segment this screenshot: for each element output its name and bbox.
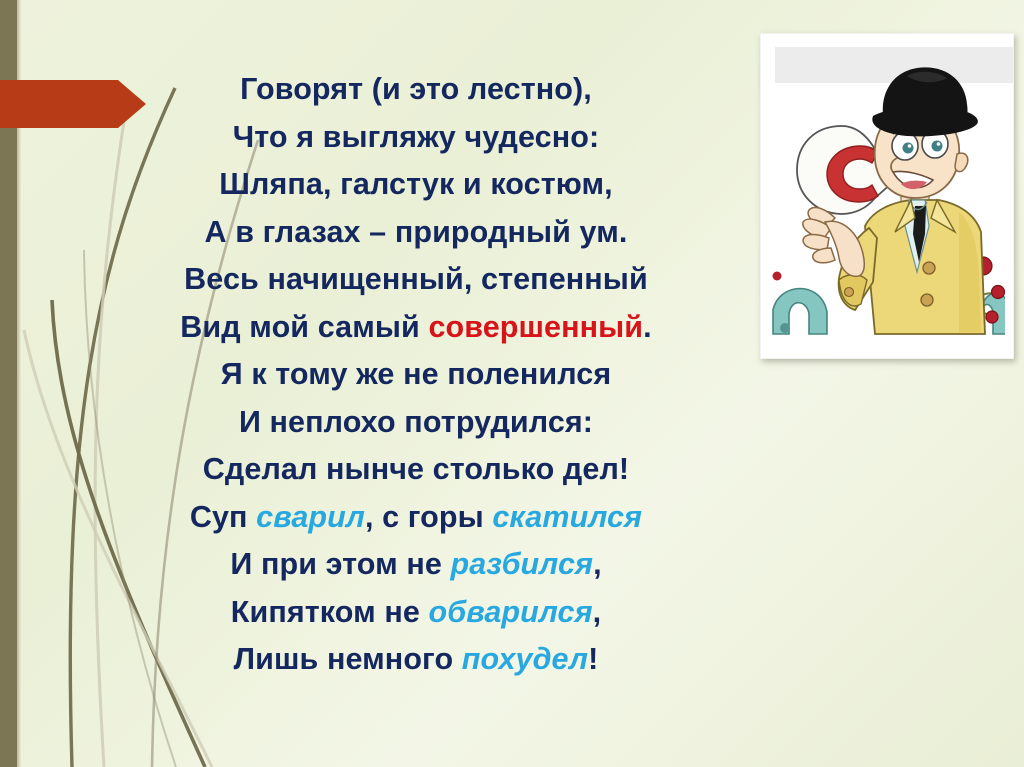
poem-line-13: Лишь немного похудел! bbox=[86, 636, 746, 684]
poem-line-12: Кипятком не обварился, bbox=[86, 589, 746, 637]
poem-segment-12-2-blue: обварился bbox=[428, 595, 592, 629]
poem-segment-6-2-red: совершенный bbox=[428, 310, 643, 344]
poem-segment-9-1: Сделал нынче столько дел! bbox=[203, 452, 629, 486]
poem-segment-6-1: Вид мой самый bbox=[180, 310, 428, 344]
poem-text-block: Говорят (и это лестно), Что я выгляжу чу… bbox=[86, 66, 746, 684]
poem-segment-13-2-blue: похудел bbox=[462, 642, 588, 676]
poem-segment-5-1: Весь начищенный, степенный bbox=[184, 262, 648, 296]
poem-line-6: Вид мой самый совершенный. bbox=[86, 304, 746, 352]
poem-segment-12-3: , bbox=[593, 595, 602, 629]
poem-line-4: А в глазах – природный ум. bbox=[86, 209, 746, 257]
poem-segment-11-2-blue: разбился bbox=[451, 547, 594, 581]
poem-segment-13-1: Лишь немного bbox=[234, 642, 462, 676]
poem-line-5: Весь начищенный, степенный bbox=[86, 256, 746, 304]
poem-line-10: Суп сварил, с горы скатился bbox=[86, 494, 746, 542]
poem-line-8: И неплохо потрудился: bbox=[86, 399, 746, 447]
boy-in-yellow-suit-illustration bbox=[769, 42, 1005, 350]
illustration-frame bbox=[760, 33, 1014, 359]
poem-segment-1-1: Говорят (и это лестно), bbox=[240, 72, 592, 106]
poem-segment-6-3: . bbox=[643, 310, 652, 344]
poem-line-9: Сделал нынче столько дел! bbox=[86, 446, 746, 494]
poem-line-11: И при этом не разбился, bbox=[86, 541, 746, 589]
poem-segment-10-4-blue: скатился bbox=[492, 500, 642, 534]
slide-canvas: Говорят (и это лестно), Что я выгляжу чу… bbox=[0, 0, 1024, 767]
poem-segment-11-3: , bbox=[593, 547, 602, 581]
poem-line-3: Шляпа, галстук и костюм, bbox=[86, 161, 746, 209]
poem-segment-10-2-blue: сварил bbox=[256, 500, 365, 534]
poem-segment-10-3: , с горы bbox=[365, 500, 492, 534]
poem-segment-8-1: И неплохо потрудился: bbox=[239, 405, 593, 439]
poem-segment-3-1: Шляпа, галстук и костюм, bbox=[219, 167, 612, 201]
poem-segment-10-1: Суп bbox=[190, 500, 256, 534]
poem-segment-2-1: Что я выгляжу чудесно: bbox=[233, 120, 600, 154]
poem-segment-11-1: И при этом не bbox=[230, 547, 450, 581]
poem-segment-7-1: Я к тому же не поленился bbox=[221, 357, 612, 391]
poem-segment-4-1: А в глазах – природный ум. bbox=[205, 215, 628, 249]
poem-segment-13-3: ! bbox=[588, 642, 598, 676]
poem-line-1: Говорят (и это лестно), bbox=[86, 66, 746, 114]
poem-line-2: Что я выгляжу чудесно: bbox=[86, 114, 746, 162]
poem-line-7: Я к тому же не поленился bbox=[86, 351, 746, 399]
poem-segment-12-1: Кипятком не bbox=[231, 595, 429, 629]
